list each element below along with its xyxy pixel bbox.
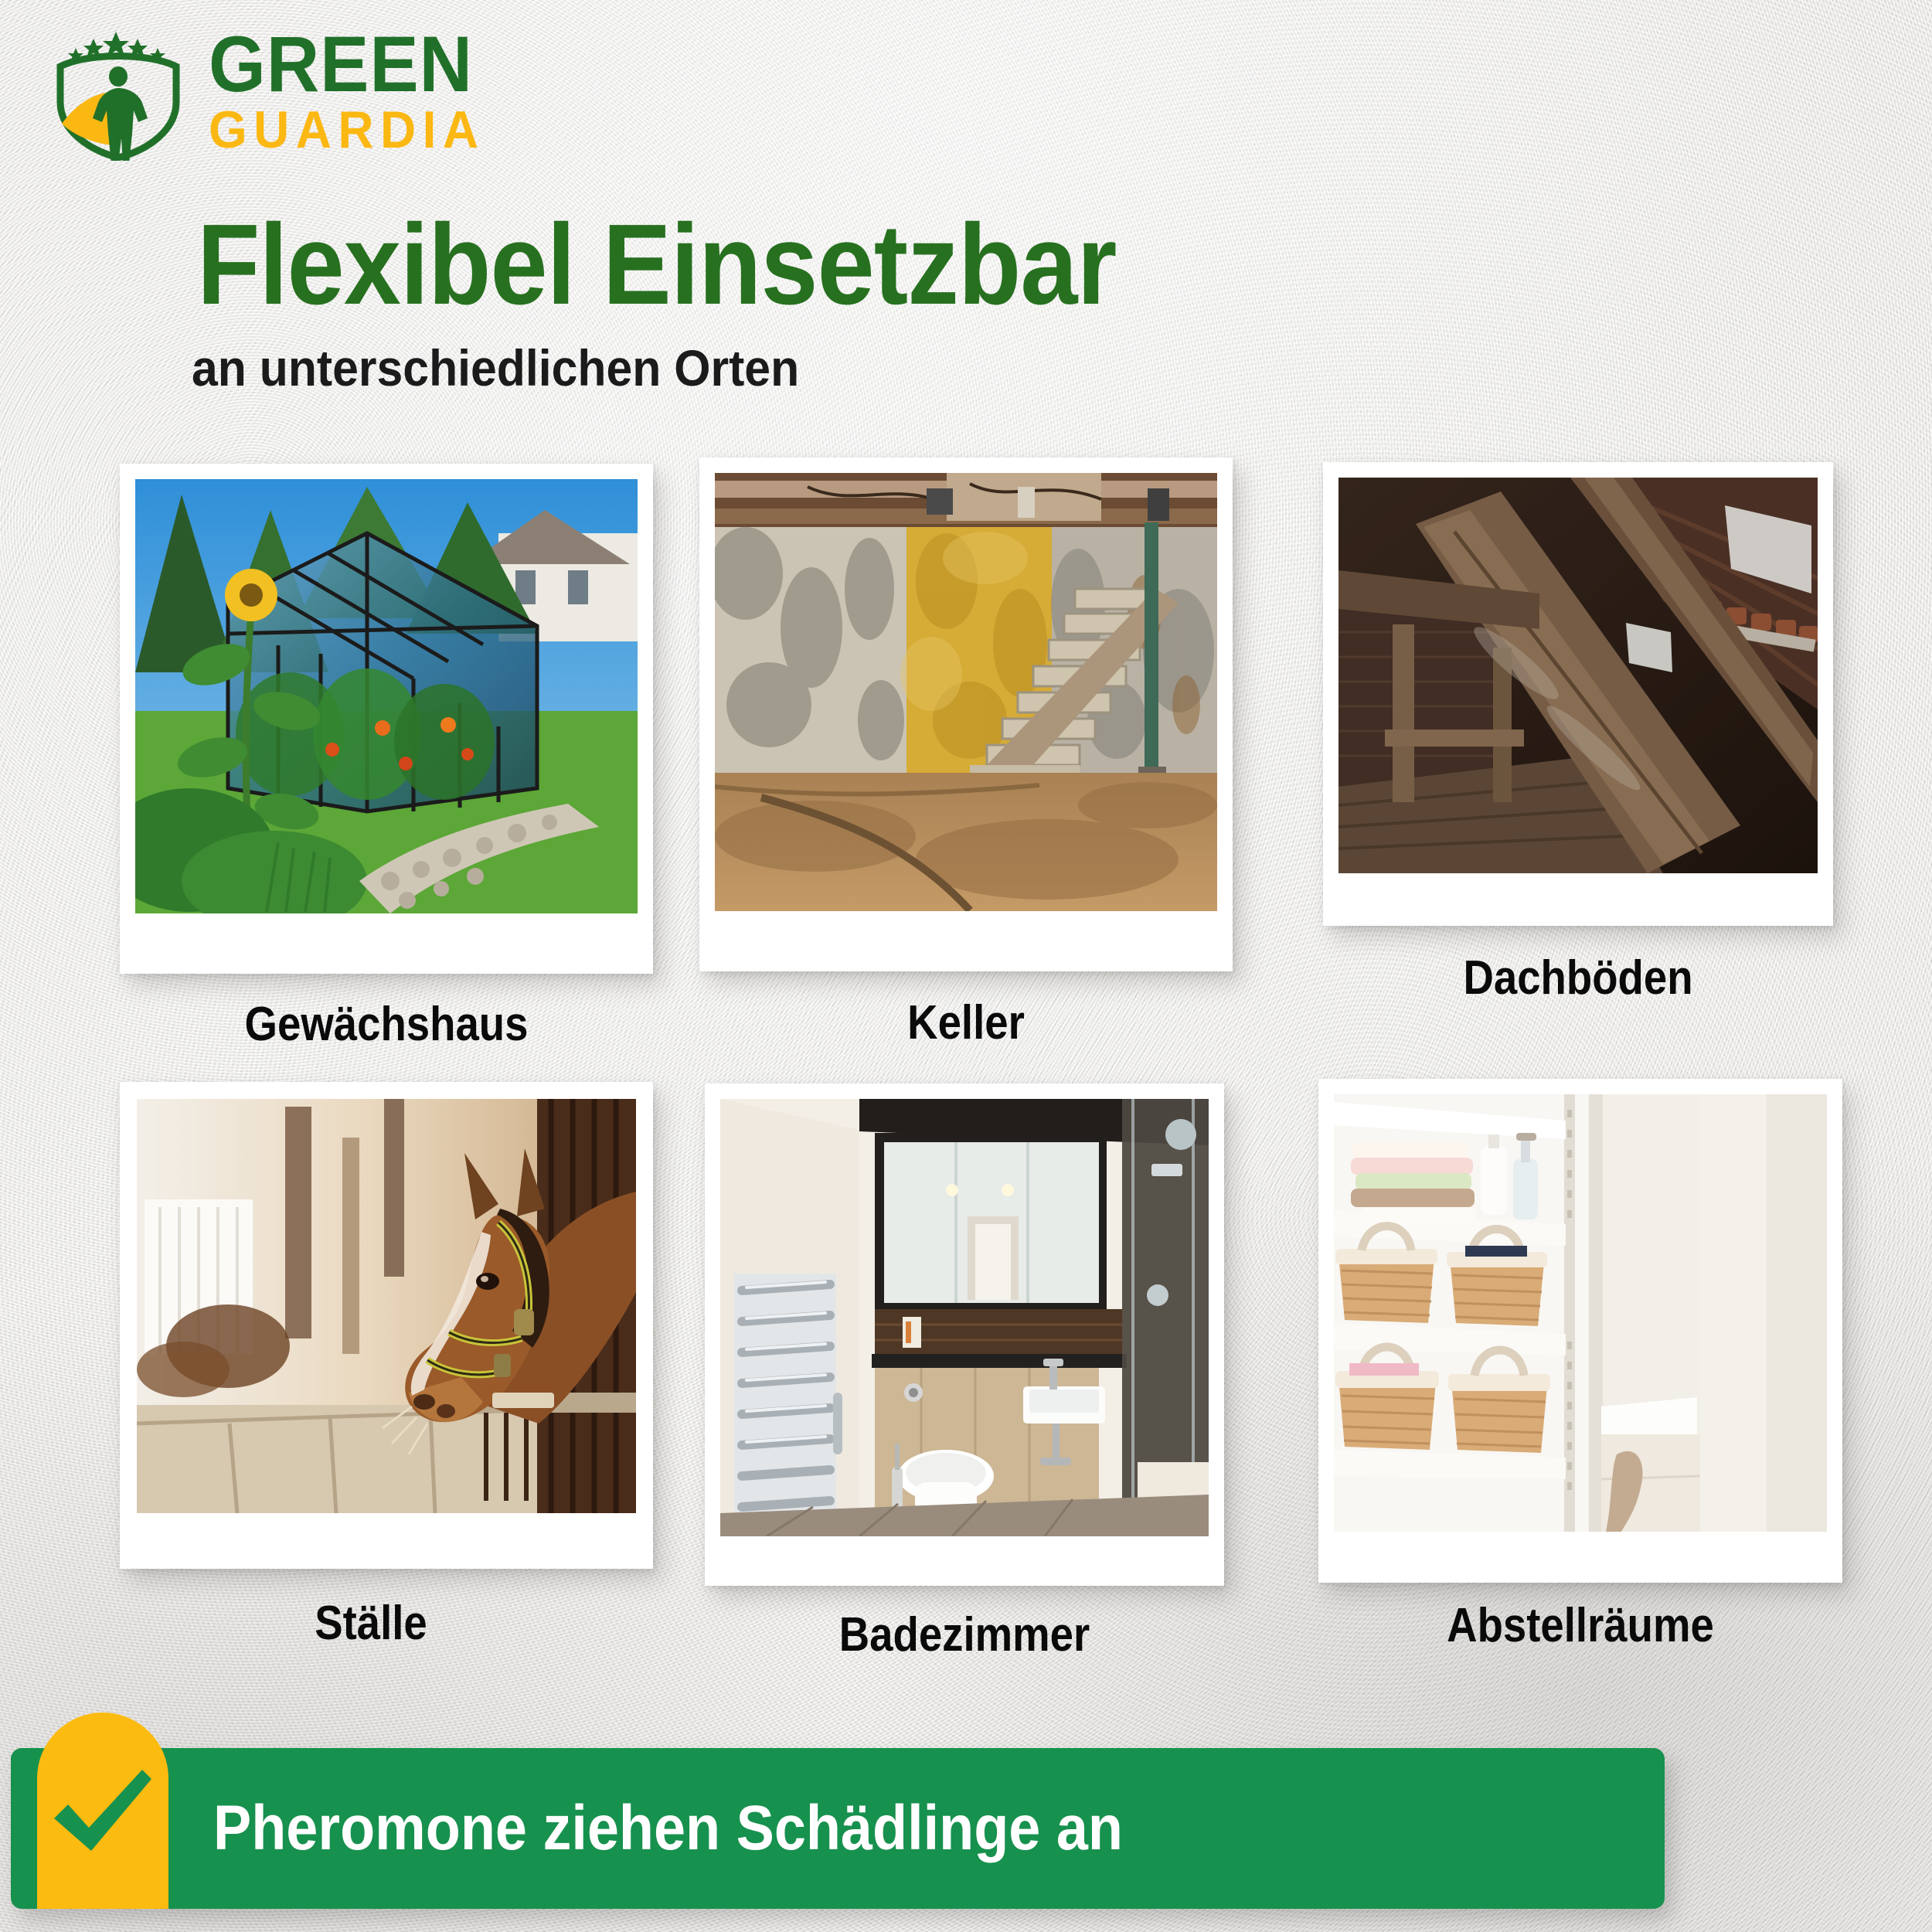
- gallery-caption-stable: Ställe: [136, 1596, 605, 1651]
- bathroom-photo: [720, 1099, 1209, 1536]
- storage-room-photo: [1334, 1094, 1827, 1532]
- banner-text: Pheromone ziehen Schädlinge an: [213, 1792, 1123, 1865]
- gallery-caption-bathroom: Badezimmer: [736, 1607, 1192, 1662]
- basement-photo: [715, 473, 1217, 911]
- checkmark-icon: [45, 1756, 161, 1872]
- attic-photo: [1338, 478, 1818, 873]
- gallery-caption-attic: Dachböden: [1354, 951, 1803, 1005]
- gallery-caption-basement: Keller: [731, 995, 1200, 1050]
- gallery-caption-storage: Abstellräume: [1350, 1598, 1811, 1653]
- gallery-caption-greenhouse: Gewächshaus: [151, 997, 621, 1052]
- checkmark-badge: [37, 1713, 168, 1909]
- usage-locations-grid: Gewächshaus: [0, 0, 1932, 1932]
- greenhouse-photo: [135, 479, 638, 913]
- horse-stable-photo: [137, 1099, 636, 1513]
- pheromone-banner[interactable]: Pheromone ziehen Schädlinge an: [11, 1748, 1665, 1909]
